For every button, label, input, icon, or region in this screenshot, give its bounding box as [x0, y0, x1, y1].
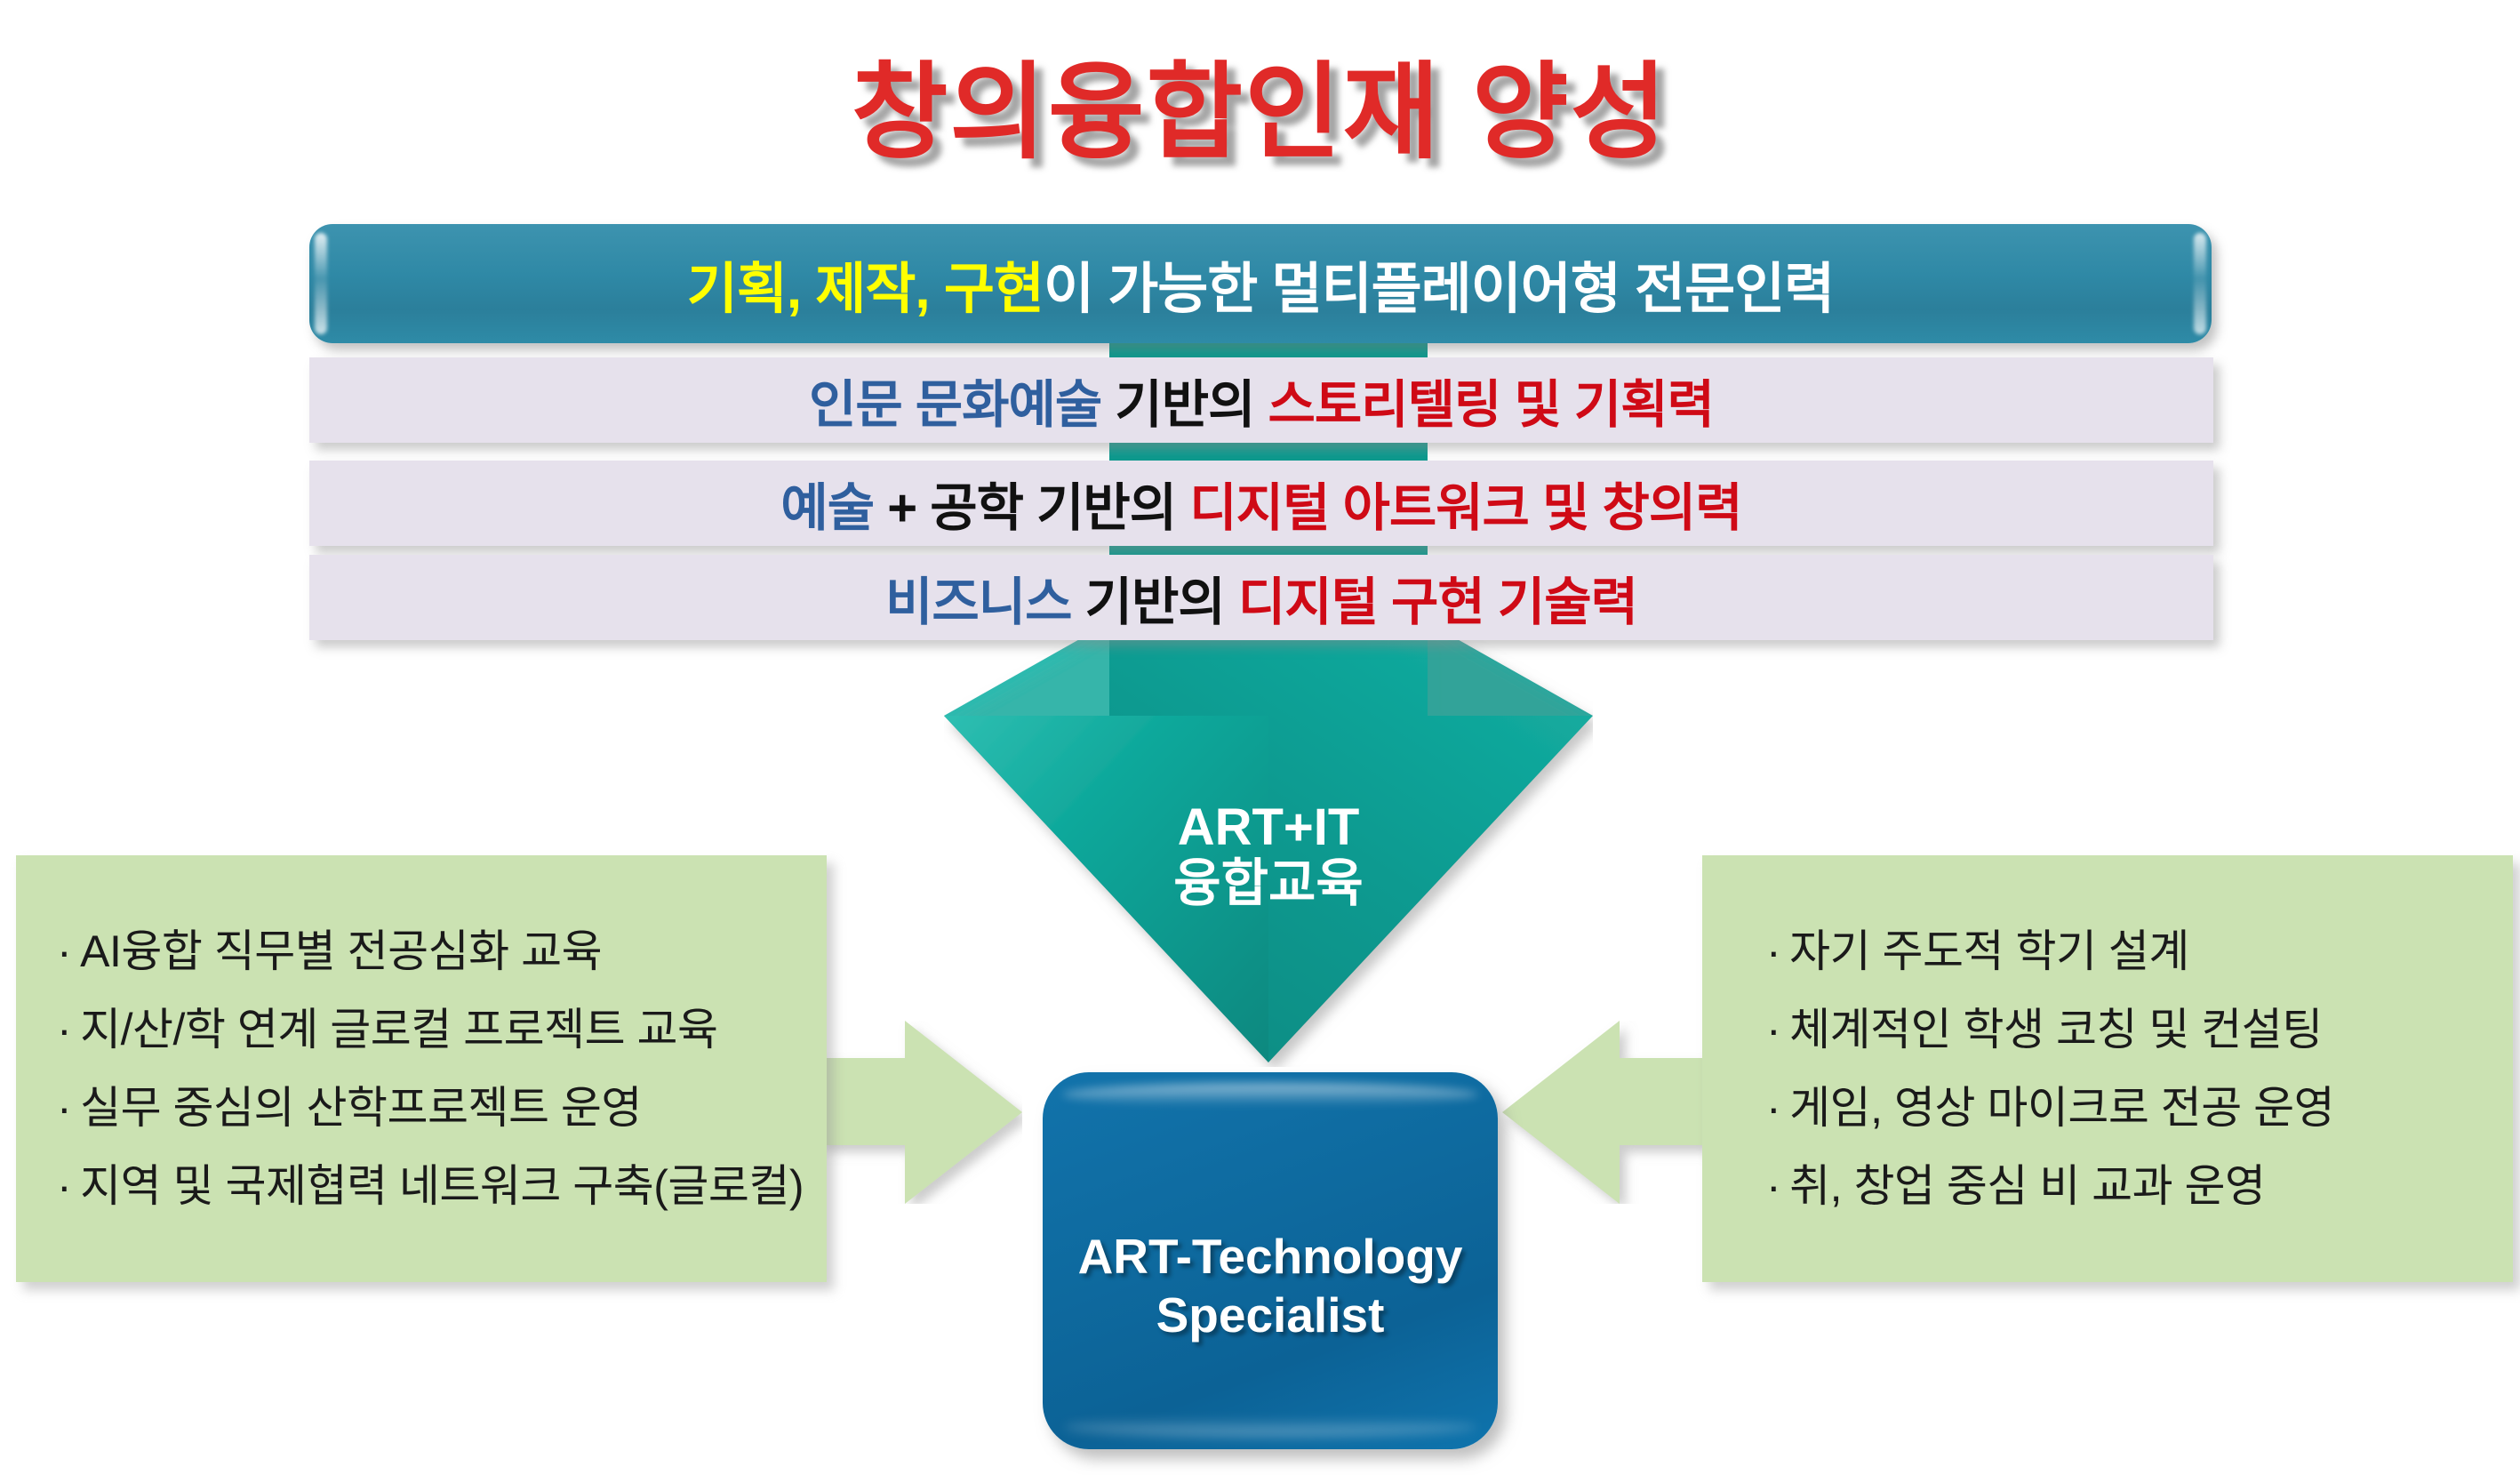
- capability-bar-3-red: 디지털 구현 기술력: [1238, 573, 1637, 631]
- capability-bar-1: 인문 문화예술 기반의 스토리텔링 및 기획력: [309, 357, 2213, 443]
- list-item: ·AI융합 직무별 전공심화 교육: [57, 929, 827, 974]
- outcome-box: ART-Technology Specialist: [1043, 1072, 1498, 1449]
- arrow-label-line2: 융합교육: [944, 856, 1593, 912]
- list-item-label: 게임, 영상 마이크로 전공 운영: [1789, 1083, 2334, 1133]
- capability-bar-1-text: 인문 문화예술 기반의 스토리텔링 및 기획력: [809, 363, 1714, 437]
- capability-bar-1-black: 기반의: [1101, 376, 1268, 434]
- bullet-icon: ·: [57, 926, 71, 976]
- header-banner: 기획, 제작, 구현이 가능한 멀티플레이어형 전문인력: [309, 224, 2212, 343]
- capability-bar-2-text: 예술 + 공학 기반의 디지털 아트워크 및 창의력: [780, 466, 1741, 541]
- list-item: ·지/산/학 연계 글로컬 프로젝트 교육: [57, 1007, 827, 1052]
- list-item: ·게임, 영상 마이크로 전공 운영: [1766, 1086, 2513, 1130]
- list-item-label: 지/산/학 연계 글로컬 프로젝트 교육: [80, 1005, 717, 1054]
- capability-bar-3: 비즈니스 기반의 디지털 구현 기술력: [309, 555, 2213, 640]
- list-item: ·자기 주도적 학기 설계: [1766, 929, 2513, 974]
- list-item-label: 자기 주도적 학기 설계: [1789, 926, 2189, 976]
- bullet-icon: ·: [57, 1161, 71, 1211]
- header-banner-text: 기획, 제작, 구현이 가능한 멀티플레이어형 전문인력: [687, 244, 1834, 324]
- list-item-label: 체계적인 학생 코칭 및 컨설팅: [1789, 1005, 2323, 1054]
- list-item-label: 지역 및 국제협력 네트워크 구축(글로컬): [80, 1161, 804, 1211]
- page-title: 창의융합인재 양성: [0, 27, 2520, 179]
- right-feature-panel: ·자기 주도적 학기 설계 ·체계적인 학생 코칭 및 컨설팅 ·게임, 영상 …: [1702, 855, 2513, 1282]
- diagram-canvas: 창의융합인재 양성 기획, 제작, 구현이 가능한 멀티플레이어형 전문인력 인…: [0, 0, 2520, 1475]
- header-rest-text: 이 가능한 멀티플레이어형 전문인력: [1044, 259, 1834, 320]
- arrow-left-icon: [1502, 1021, 1707, 1204]
- capability-bar-1-blue: 인문 문화예술: [809, 376, 1101, 434]
- left-feature-panel: ·AI융합 직무별 전공심화 교육 ·지/산/학 연계 글로컬 프로젝트 교육 …: [16, 855, 827, 1282]
- capability-bar-2-blue: 예술: [780, 479, 874, 537]
- list-item-label: 실무 중심의 산학프로젝트 운영: [80, 1083, 642, 1133]
- capability-bar-3-text: 비즈니스 기반의 디지털 구현 기술력: [885, 560, 1637, 635]
- capability-bar-2-red: 디지털 아트워크 및 창의력: [1189, 479, 1741, 537]
- list-item: ·취, 창업 중심 비 교과 운영: [1766, 1164, 2513, 1208]
- bullet-icon: ·: [1766, 1161, 1780, 1211]
- bullet-icon: ·: [57, 1005, 71, 1054]
- bullet-icon: ·: [1766, 1083, 1780, 1133]
- capability-bar-3-blue: 비즈니스: [885, 573, 1071, 631]
- list-item-label: AI융합 직무별 전공심화 교육: [80, 926, 602, 976]
- capability-bar-1-red: 스토리텔링 및 기획력: [1268, 376, 1714, 434]
- list-item-label: 취, 창업 중심 비 교과 운영: [1789, 1161, 2265, 1211]
- capability-bar-2: 예술 + 공학 기반의 디지털 아트워크 및 창의력: [309, 461, 2213, 546]
- capability-bar-2-black: + 공학 기반의: [874, 479, 1189, 537]
- bullet-icon: ·: [57, 1083, 71, 1133]
- arrow-label: ART+IT 융합교육: [944, 800, 1593, 911]
- header-highlight-text: 기획, 제작, 구현: [687, 259, 1044, 320]
- bullet-icon: ·: [1766, 926, 1780, 976]
- bullet-icon: ·: [1766, 1005, 1780, 1054]
- list-item: ·실무 중심의 산학프로젝트 운영: [57, 1086, 827, 1130]
- outcome-line1: ART-Technology: [1078, 1227, 1463, 1286]
- arrow-label-line1: ART+IT: [944, 800, 1593, 856]
- list-item: ·지역 및 국제협력 네트워크 구축(글로컬): [57, 1164, 827, 1208]
- list-item: ·체계적인 학생 코칭 및 컨설팅: [1766, 1007, 2513, 1052]
- arrow-right-icon: [818, 1021, 1022, 1204]
- capability-bar-3-black: 기반의: [1072, 573, 1238, 631]
- outcome-box-text: ART-Technology Specialist: [1078, 1227, 1463, 1344]
- outcome-line2: Specialist: [1078, 1286, 1463, 1344]
